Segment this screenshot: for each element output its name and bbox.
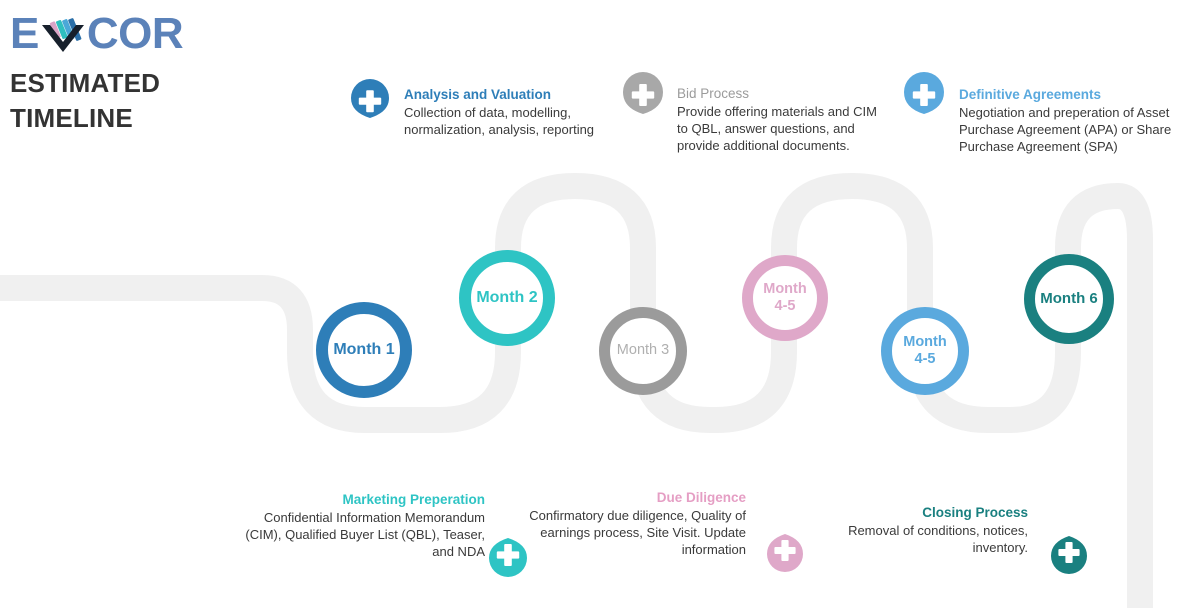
caption-title-2: Marketing Preperation	[245, 492, 485, 509]
page-title-line1: ESTIMATED	[10, 66, 183, 101]
month-label-3: Month 3	[617, 342, 669, 359]
caption-body-6: Removal of conditions, notices, inventor…	[800, 523, 1028, 557]
caption-body-4: Confirmatory due diligence, Quality of e…	[528, 508, 746, 559]
month-label-4-line1: Month	[763, 281, 806, 298]
caption-title-6: Closing Process	[800, 505, 1028, 522]
stem-and-pin-2	[487, 330, 529, 580]
caption-title-4: Due Diligence	[528, 490, 746, 507]
caption-marketing-preperation: Marketing Preperation Confidential Infor…	[245, 492, 485, 561]
month-ring-3[interactable]: Month 3	[599, 307, 687, 395]
month-label-5-line2: 4-5	[915, 351, 936, 368]
month-ring-6[interactable]: Month 6	[1024, 254, 1114, 344]
logo-letter-e: E	[10, 12, 39, 56]
month-label-4-line2: 4-5	[775, 298, 796, 315]
timeline-infographic: E COR ESTIMATED TIMELINE	[0, 0, 1200, 608]
page-title: ESTIMATED TIMELINE	[10, 66, 183, 136]
caption-title-1: Analysis and Valuation	[404, 87, 624, 104]
caption-title-5: Definitive Agreements	[959, 87, 1191, 104]
evcor-books-chevron-logo	[40, 15, 86, 53]
month-ring-1[interactable]: Month 1	[316, 302, 412, 398]
month-ring-5[interactable]: Month 4-5	[881, 307, 969, 395]
caption-due-diligence: Due Diligence Confirmatory due diligence…	[528, 490, 746, 559]
brand-logo-block: E COR ESTIMATED TIMELINE	[10, 12, 183, 136]
caption-definitive-agreements: Definitive Agreements Negotiation and pr…	[959, 87, 1191, 156]
logo-letters-cor: COR	[87, 12, 183, 56]
brand-wordmark: E COR	[10, 12, 183, 56]
month-label-2: Month 2	[476, 289, 537, 308]
month-ring-2[interactable]: Month 2	[459, 250, 555, 346]
page-title-line2: TIMELINE	[10, 101, 183, 136]
month-label-6: Month 6	[1040, 290, 1098, 308]
month-label-1: Month 1	[333, 341, 394, 360]
caption-body-1: Collection of data, modelling, normaliza…	[404, 105, 624, 139]
caption-closing-process: Closing Process Removal of conditions, n…	[800, 505, 1028, 557]
caption-analysis-and-valuation: Analysis and Valuation Collection of dat…	[404, 87, 624, 139]
month-ring-4[interactable]: Month 4-5	[742, 255, 828, 341]
caption-body-2: Confidential Information Memorandum (CIM…	[245, 510, 485, 561]
caption-bid-process: Bid Process Provide offering materials a…	[677, 86, 877, 155]
caption-body-3: Provide offering materials and CIM to QB…	[677, 104, 877, 155]
month-label-5-line1: Month	[903, 334, 946, 351]
caption-title-3: Bid Process	[677, 86, 877, 103]
caption-body-5: Negotiation and preperation of Asset Pur…	[959, 105, 1191, 156]
